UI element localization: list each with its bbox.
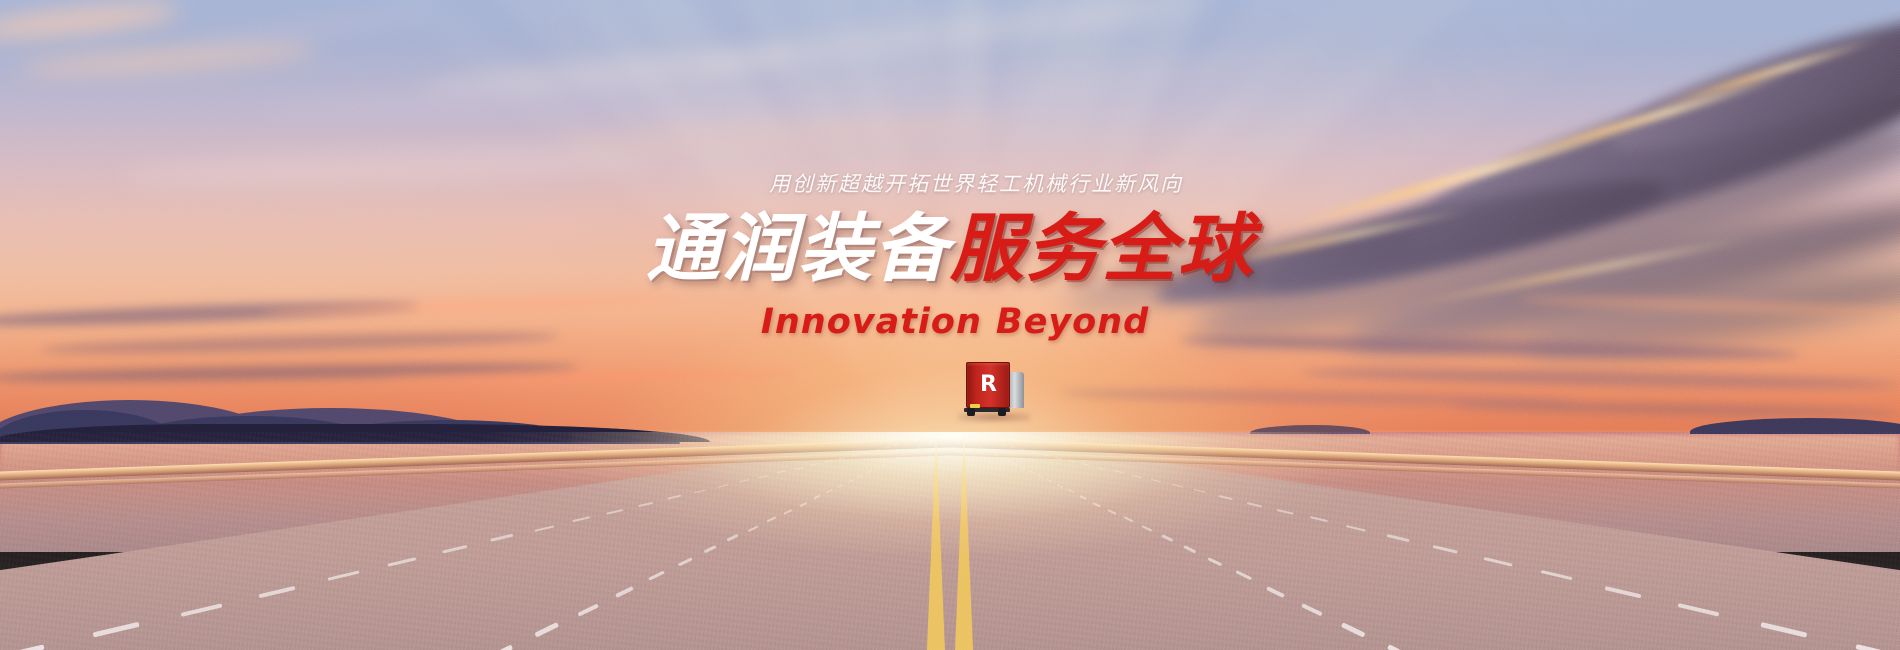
center-line-left xyxy=(927,432,945,650)
truck: R xyxy=(962,358,1024,416)
center-line-right xyxy=(955,432,973,650)
truck-container: R xyxy=(966,362,1010,408)
guardrail-right xyxy=(950,432,1900,492)
guardrail-left xyxy=(0,432,950,492)
road xyxy=(0,432,1900,650)
hero-banner: R 用创新超越开拓世界轻工机械行业新风向 通润装备服务全球 Innovation… xyxy=(0,0,1900,650)
truck-wheel-right xyxy=(998,408,1006,416)
truck-logo: R xyxy=(980,374,996,396)
truck-wheel-left xyxy=(967,408,975,416)
